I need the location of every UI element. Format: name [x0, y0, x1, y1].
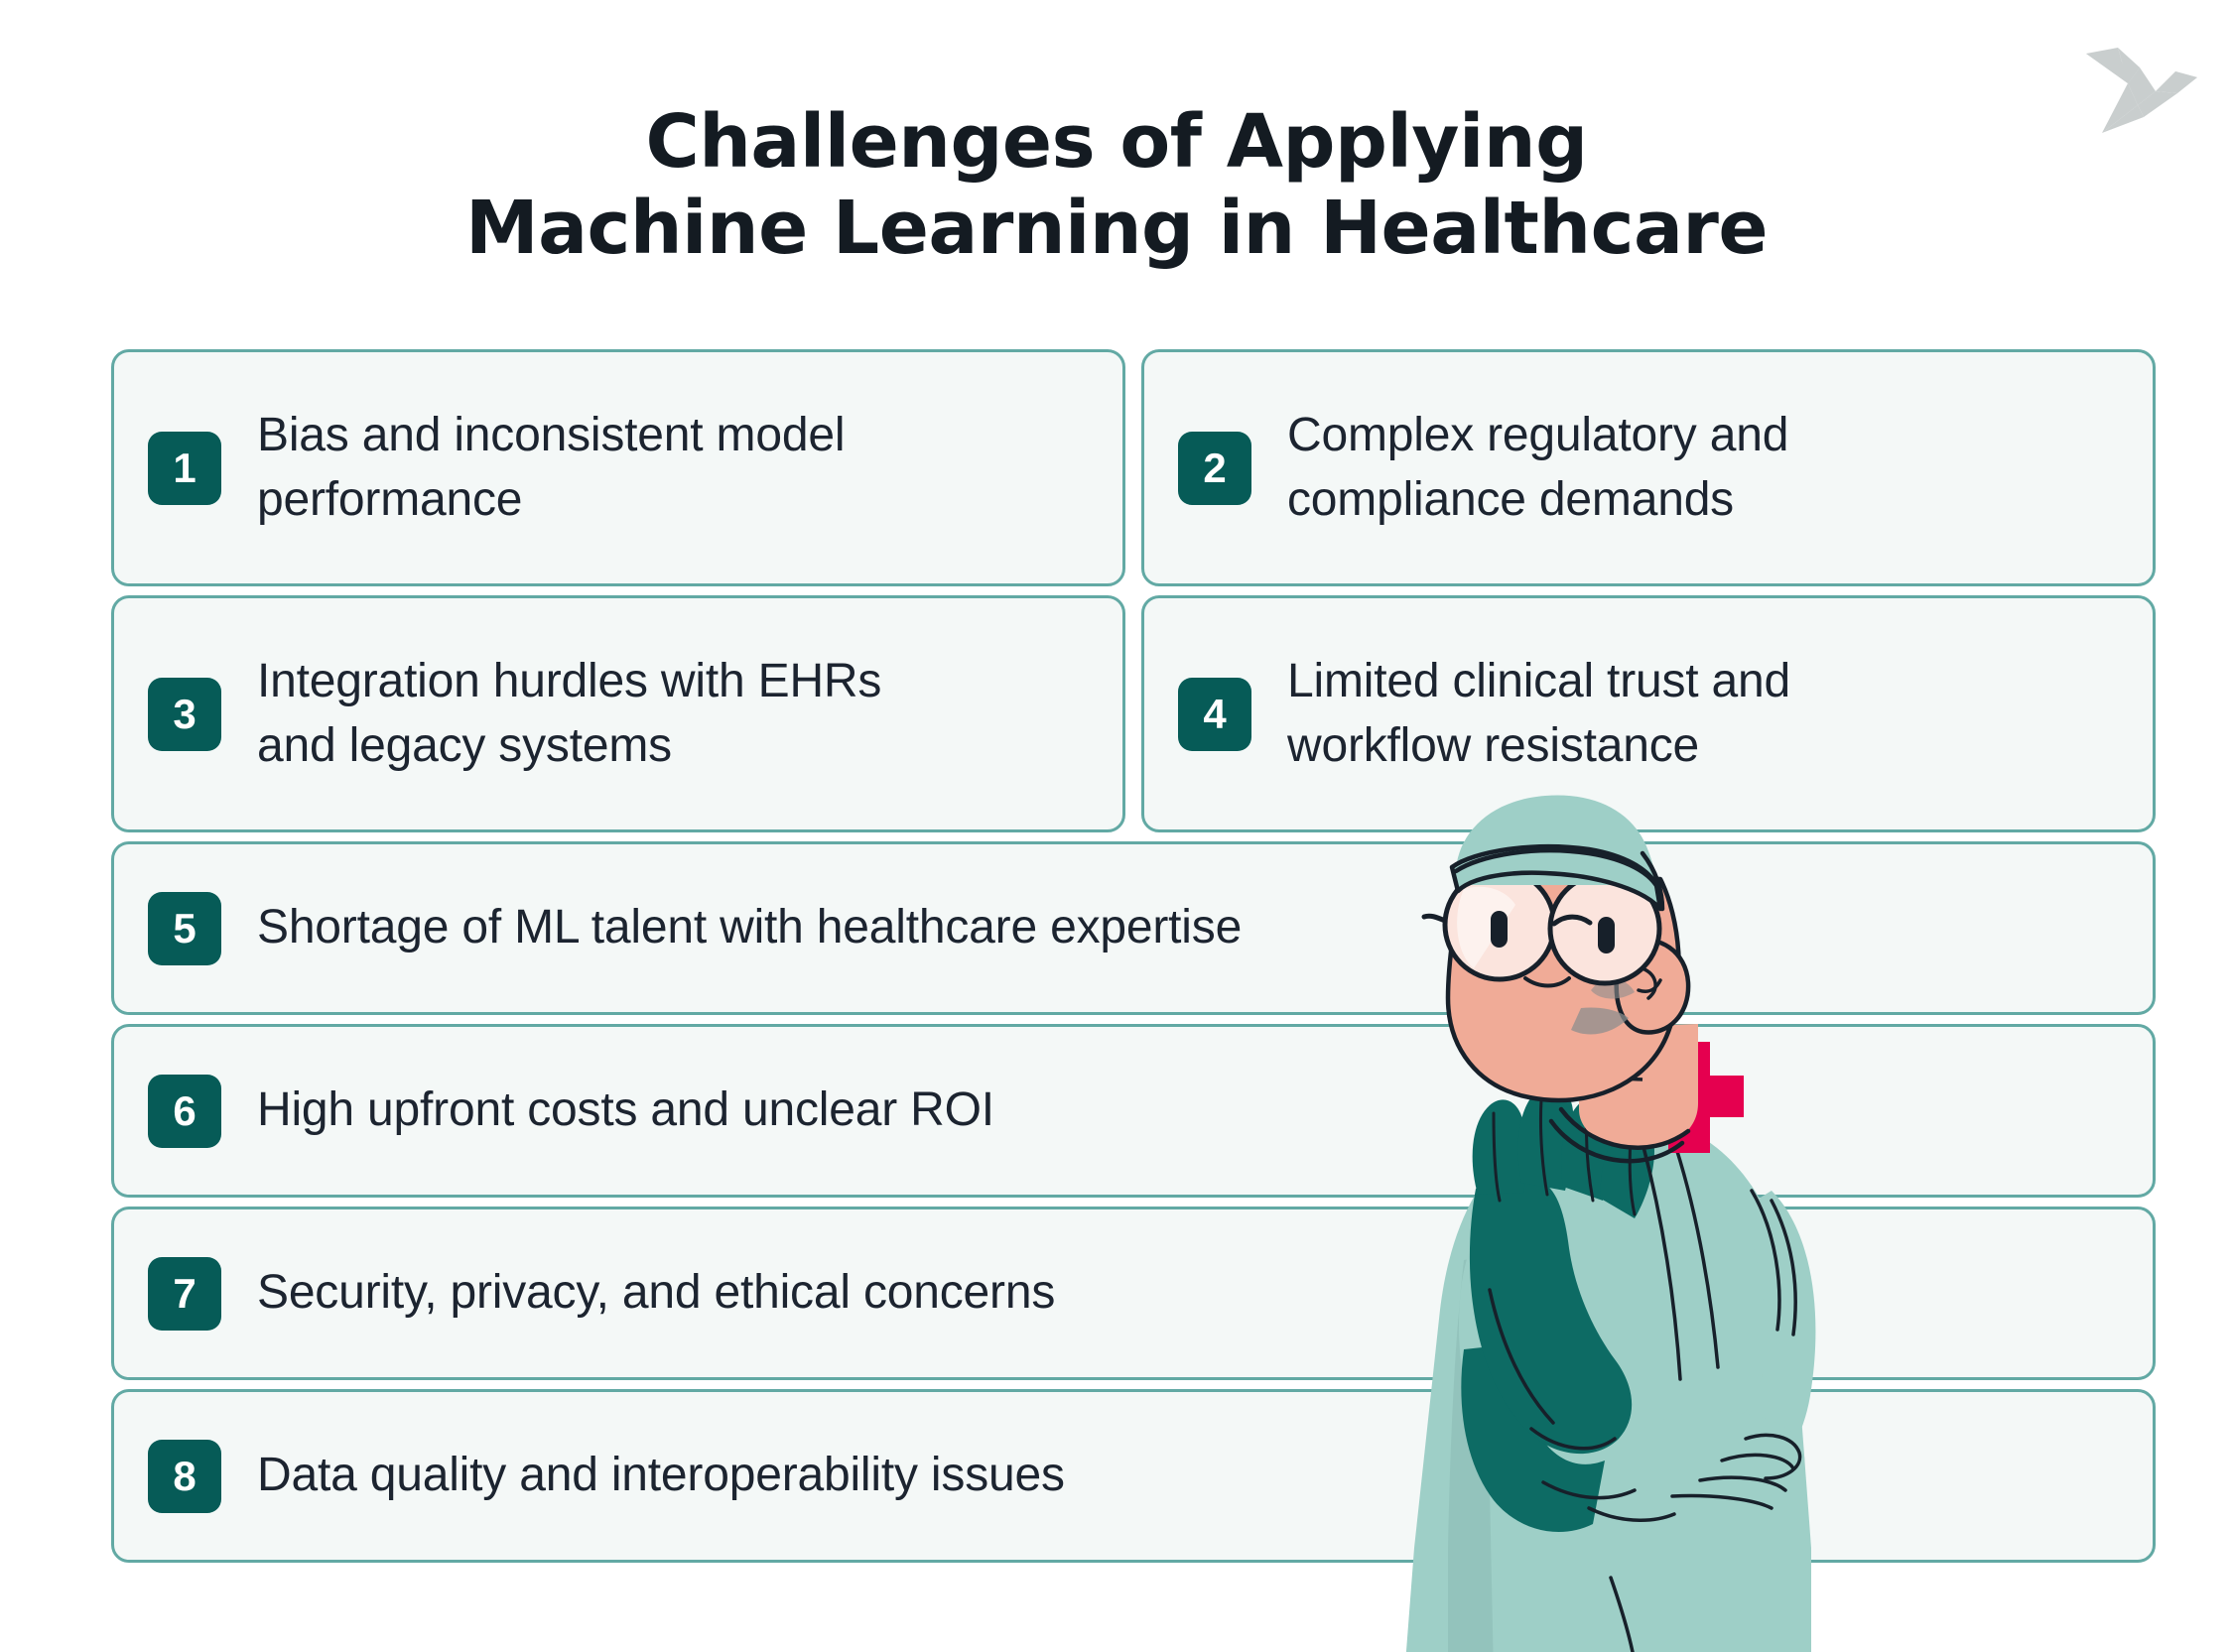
challenges-row-2: 3 Integration hurdles with EHRs and lega… — [111, 595, 2156, 832]
challenge-text-5: Shortage of ML talent with healthcare ex… — [257, 896, 1242, 960]
challenge-text-1: Bias and inconsistent model performance — [257, 404, 952, 533]
challenges-row-6: 8 Data quality and interoperability issu… — [111, 1389, 2156, 1563]
challenge-text-6: High upfront costs and unclear ROI — [257, 1079, 994, 1143]
infographic-page: Challenges of Applying Machine Learning … — [0, 0, 2233, 1652]
challenges-row-3: 5 Shortage of ML talent with healthcare … — [111, 841, 2156, 1015]
challenge-badge-5: 5 — [148, 892, 221, 965]
challenge-badge-2: 2 — [1178, 432, 1251, 505]
challenge-card-7[interactable]: 7 Security, privacy, and ethical concern… — [111, 1207, 2156, 1380]
challenges-row-4: 6 High upfront costs and unclear ROI — [111, 1024, 2156, 1198]
challenge-text-7: Security, privacy, and ethical concerns — [257, 1261, 1055, 1326]
challenges-grid: 1 Bias and inconsistent model performanc… — [111, 349, 2156, 1572]
page-title: Challenges of Applying Machine Learning … — [0, 99, 2233, 273]
page-title-line-2: Machine Learning in Healthcare — [0, 186, 2233, 272]
challenge-text-3: Integration hurdles with EHRs and legacy… — [257, 650, 952, 779]
challenge-card-4[interactable]: 4 Limited clinical trust and workflow re… — [1141, 595, 2156, 832]
challenge-badge-3: 3 — [148, 678, 221, 751]
page-title-line-1: Challenges of Applying — [0, 99, 2233, 186]
challenge-text-4: Limited clinical trust and workflow resi… — [1287, 650, 1982, 779]
challenges-row-1: 1 Bias and inconsistent model performanc… — [111, 349, 2156, 586]
challenge-badge-1: 1 — [148, 432, 221, 505]
challenge-card-3[interactable]: 3 Integration hurdles with EHRs and lega… — [111, 595, 1125, 832]
challenges-row-5: 7 Security, privacy, and ethical concern… — [111, 1207, 2156, 1380]
challenge-text-2: Complex regulatory and compliance demand… — [1287, 404, 1982, 533]
challenge-badge-8: 8 — [148, 1440, 221, 1513]
challenge-card-5[interactable]: 5 Shortage of ML talent with healthcare … — [111, 841, 2156, 1015]
challenge-text-8: Data quality and interoperability issues — [257, 1444, 1065, 1508]
challenge-badge-7: 7 — [148, 1257, 221, 1331]
challenge-badge-6: 6 — [148, 1075, 221, 1148]
challenge-card-1[interactable]: 1 Bias and inconsistent model performanc… — [111, 349, 1125, 586]
challenge-card-6[interactable]: 6 High upfront costs and unclear ROI — [111, 1024, 2156, 1198]
challenge-badge-4: 4 — [1178, 678, 1251, 751]
challenge-card-8[interactable]: 8 Data quality and interoperability issu… — [111, 1389, 2156, 1563]
challenge-card-2[interactable]: 2 Complex regulatory and compliance dema… — [1141, 349, 2156, 586]
